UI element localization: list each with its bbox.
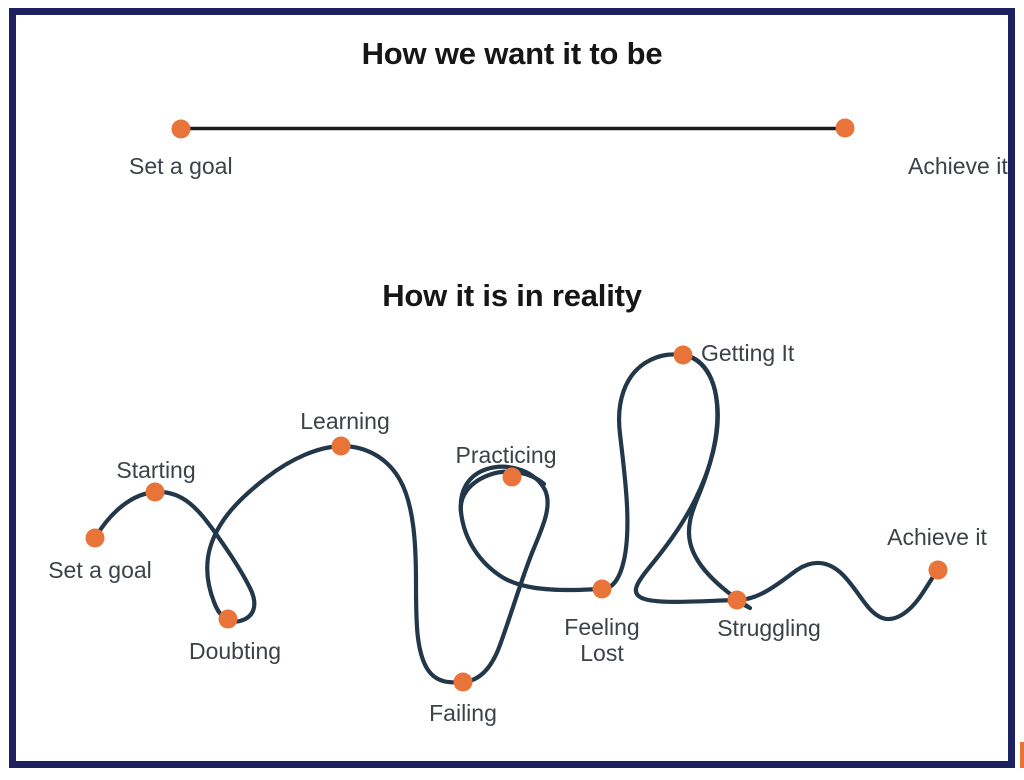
ideal-section-title: How we want it to be	[0, 36, 1024, 72]
label-getting-it: Getting It	[701, 340, 794, 366]
label-practicing: Practicing	[456, 442, 557, 468]
reality-section-title: How it is in reality	[0, 278, 1024, 314]
label-feeling-lost-line2: Lost	[580, 640, 623, 666]
poster-canvas: How we want it to be How it is in realit…	[0, 0, 1024, 780]
label-set-a-goal: Set a goal	[48, 557, 152, 583]
label-struggling: Struggling	[717, 615, 821, 641]
label-feeling-lost: Feeling Lost	[564, 614, 639, 666]
label-failing: Failing	[429, 700, 497, 726]
label-doubting: Doubting	[189, 638, 281, 664]
label-feeling-lost-line1: Feeling	[564, 614, 639, 640]
corner-artifact	[1020, 742, 1024, 768]
label-achieve-it: Achieve it	[887, 524, 987, 550]
label-ideal-set-a-goal: Set a goal	[129, 153, 233, 179]
poster-frame	[9, 8, 1015, 768]
label-ideal-achieve-it: Achieve it	[908, 153, 1008, 179]
label-starting: Starting	[116, 457, 195, 483]
label-learning: Learning	[300, 408, 390, 434]
